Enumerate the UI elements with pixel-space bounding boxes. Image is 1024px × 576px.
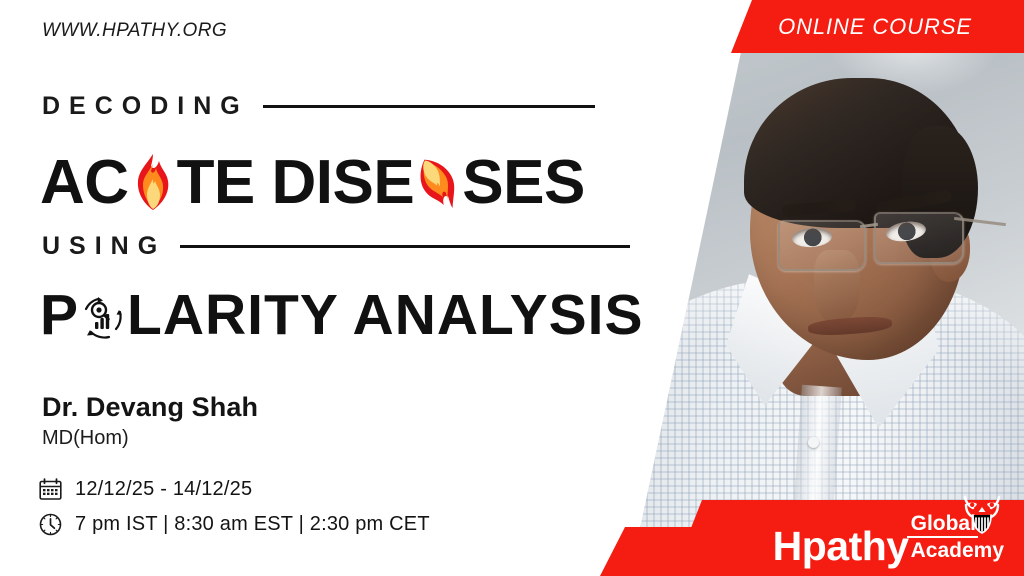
schedule-times: 7 pm IST | 8:30 am EST | 2:30 pm CET [75,513,430,536]
calendar-icon [38,477,63,502]
course-promo-poster: ONLINE COURSE WWW.HPATHY.ORG DECODING AC… [0,0,1024,576]
speaker-photo [600,0,1024,576]
clock-icon [38,512,63,537]
lens-left [778,220,866,271]
eyeglasses [750,206,990,296]
schedule-times-row: 7 pm IST | 8:30 am EST | 2:30 pm CET [38,512,430,537]
shirt-button [808,437,819,448]
headline-line-2-part-b: LARITY ANALYSIS [127,282,643,348]
headline-line-1-part-c: SES [462,147,585,218]
logo-line-academy: Academy [907,538,1006,563]
analytics-search-icon [78,290,128,340]
schedule-dates-row: 12/12/25 - 14/12/25 [38,477,252,502]
online-course-badge: ONLINE COURSE [712,0,1024,53]
headline-line-1-part-a: AC [40,147,129,218]
fire-emoji-icon-2 [412,152,464,214]
speaker-name: Dr. Devang Shah [42,392,258,423]
lens-right [874,212,964,264]
site-url: WWW.HPATHY.ORG [42,20,227,42]
owl-icon [960,492,1004,536]
speaker-credentials: MD(Hom) [42,427,129,450]
headline-line-2-part-a: P [40,282,79,348]
kicker-using-rule [180,245,630,248]
hpathy-logo[interactable]: Hpathy Global Academy [773,512,1006,566]
kicker-using-label: USING [42,232,166,261]
kicker-using: USING [42,232,630,261]
kicker-decoding: DECODING [42,92,595,121]
photo-background [600,0,1024,576]
schedule-dates: 12/12/25 - 14/12/25 [75,478,252,501]
headline-line-2: P [40,282,644,348]
headline-line-1: AC TE DISE SES [40,147,585,218]
kicker-decoding-label: DECODING [42,92,249,121]
kicker-decoding-rule [263,105,595,108]
headline-line-1-part-b: TE DISE [177,147,415,218]
online-course-badge-label: ONLINE COURSE [764,14,972,40]
logo-wordmark: Hpathy [773,528,909,566]
fire-emoji-icon [127,152,179,214]
